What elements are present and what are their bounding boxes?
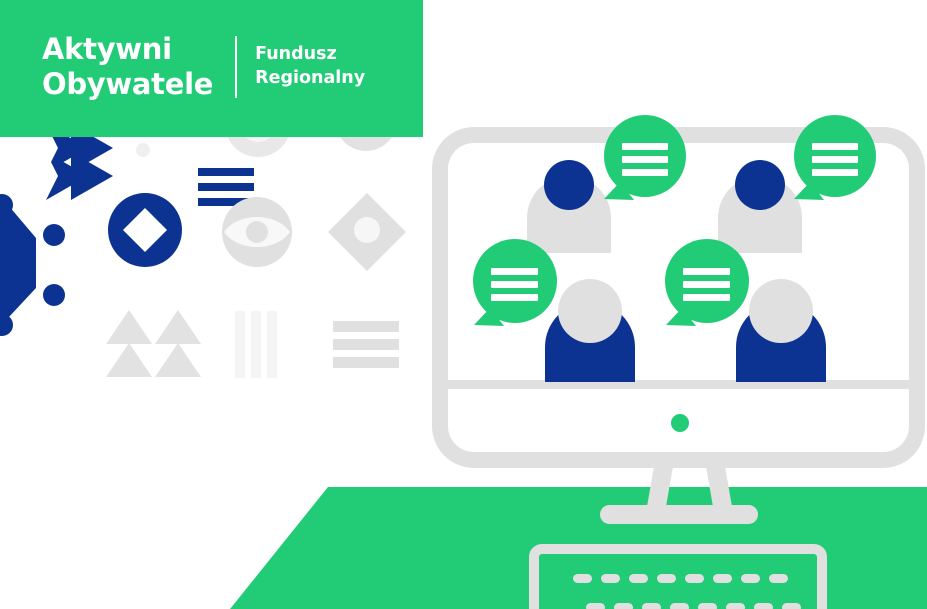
keyboard (534, 549, 822, 609)
logo-secondary-name: Fundusz Regionalny (255, 43, 365, 89)
logo-divider-rule (235, 36, 237, 98)
logo-sub-line-2: Regionalny (255, 67, 365, 90)
logo-sub-line-1: Fundusz (255, 43, 365, 66)
keyboard-row-1 (573, 574, 788, 583)
logo-line-2: Obywatele (42, 67, 213, 101)
logo-line-1: Aktywni (42, 32, 213, 66)
logo-lockup: Aktywni Obywatele Fundusz Regionalny (42, 32, 365, 100)
keyboard-row-2 (586, 603, 801, 609)
logo-primary-name: Aktywni Obywatele (42, 32, 213, 100)
logo-banner: Aktywni Obywatele Fundusz Regionalny (0, 0, 423, 137)
illustration-canvas: Aktywni Obywatele Fundusz Regionalny (0, 0, 927, 609)
monitor-indicator-dot (671, 414, 689, 432)
monitor-bezel-line (448, 380, 909, 389)
